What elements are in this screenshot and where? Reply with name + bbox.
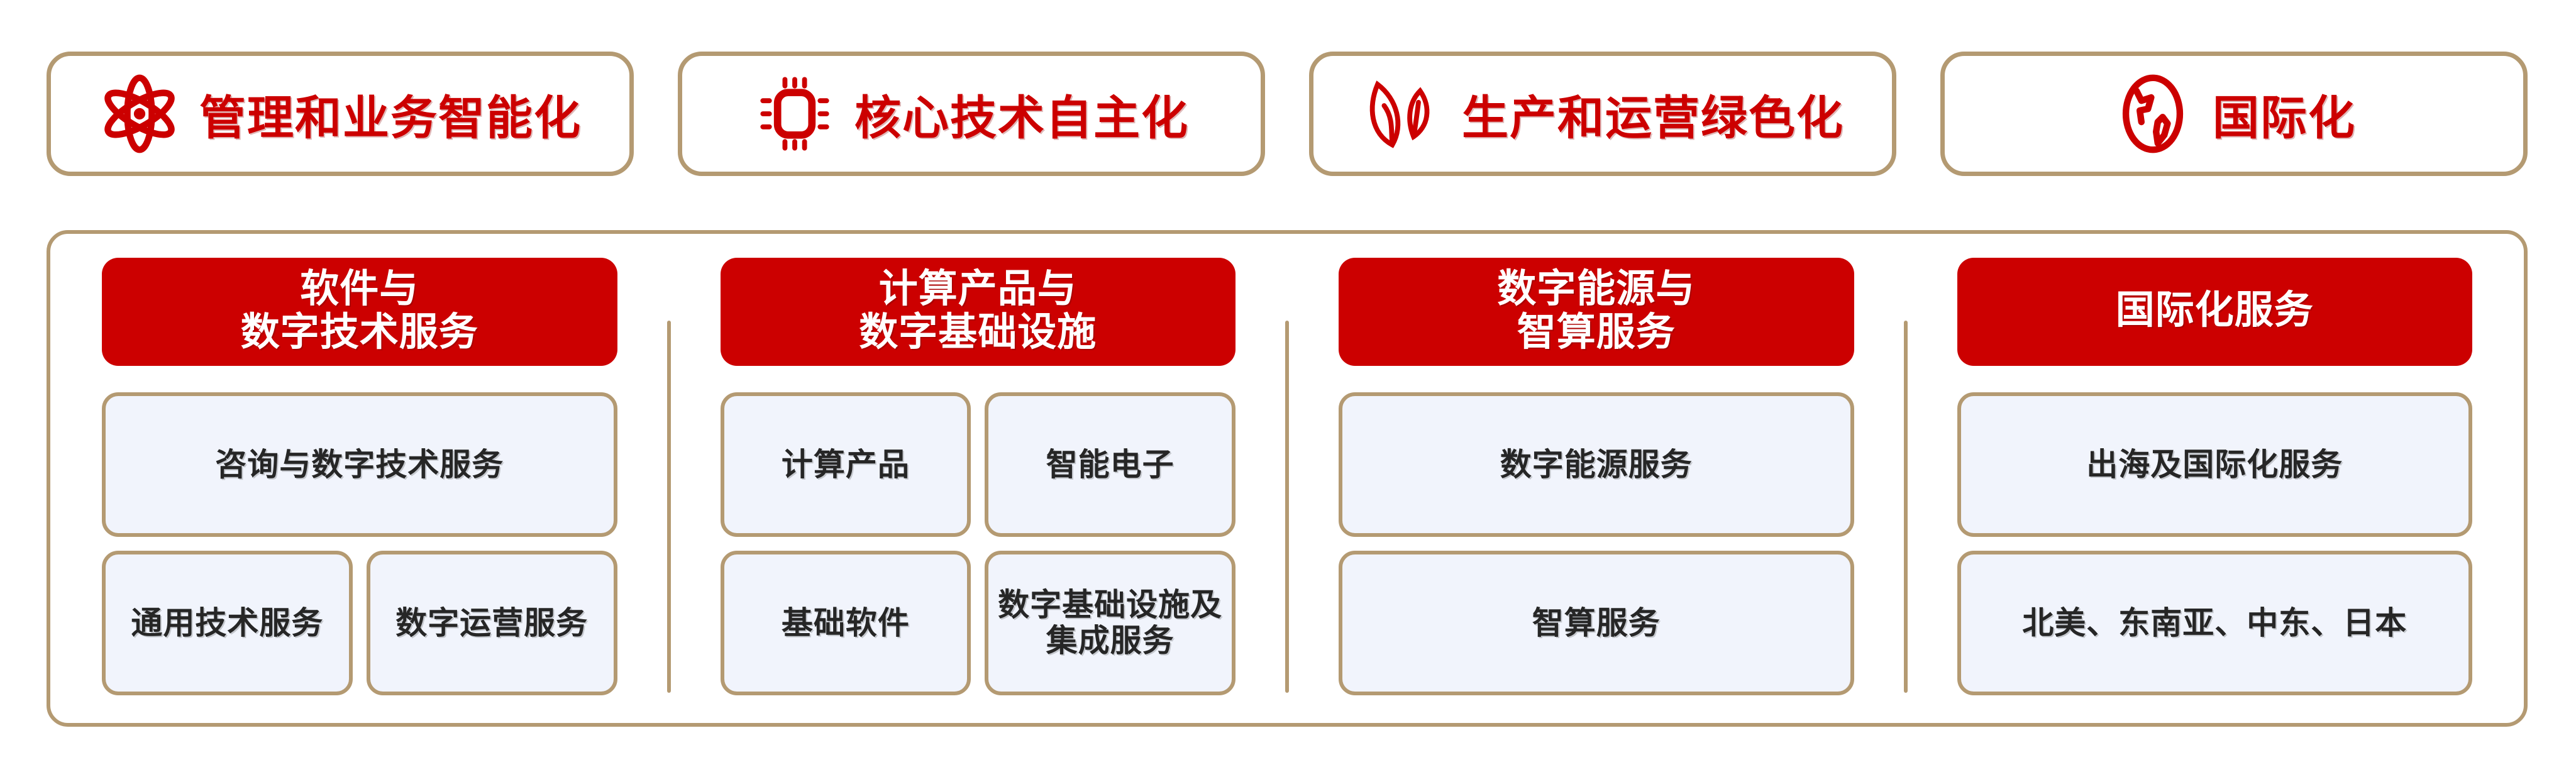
column-header-line1: 计算产品与 <box>879 267 1077 311</box>
column-header[interactable]: 数字能源与 智算服务 <box>1339 258 1854 366</box>
service-item[interactable]: 计算产品 <box>721 392 971 537</box>
column-header-line1: 国际化服务 <box>2116 289 2314 332</box>
strategy-card-internationalization[interactable]: 国际化 <box>1940 52 2528 176</box>
item-row: 数字能源服务 <box>1339 392 1854 537</box>
service-item[interactable]: 数字基础设施及 集成服务 <box>985 551 1235 695</box>
column-header-line2: 智算服务 <box>1517 311 1676 354</box>
service-item-label: 计算产品 <box>782 447 910 483</box>
column-header[interactable]: 软件与 数字技术服务 <box>102 258 617 366</box>
service-item[interactable]: 基础软件 <box>721 551 971 695</box>
business-columns: 软件与 数字技术服务 咨询与数字技术服务 通用技术服务 数字运营服务 <box>50 234 2524 723</box>
service-item-label: 智能电子 <box>1046 447 1175 483</box>
chip-icon <box>754 73 836 155</box>
strategy-card-label: 核心技术自主化 <box>854 80 1189 148</box>
column-items: 数字能源服务 智算服务 <box>1339 392 1854 695</box>
column-items: 计算产品 智能电子 基础软件 数字基础设施及 集成服务 <box>721 392 1236 695</box>
column-header-line1: 数字能源与 <box>1497 267 1695 311</box>
item-row: 出海及国际化服务 <box>1957 392 2473 537</box>
business-column-international-services: 国际化服务 出海及国际化服务 北美、东南亚、中东、日本 <box>1906 234 2524 723</box>
service-item[interactable]: 智算服务 <box>1339 551 1854 695</box>
strategy-card-label: 管理和业务智能化 <box>199 80 582 148</box>
service-item[interactable]: 出海及国际化服务 <box>1957 392 2473 537</box>
business-segments-panel: 软件与 数字技术服务 咨询与数字技术服务 通用技术服务 数字运营服务 <box>47 230 2528 727</box>
service-item-label: 数字能源服务 <box>1500 447 1693 483</box>
business-column-software-digital-tech: 软件与 数字技术服务 咨询与数字技术服务 通用技术服务 数字运营服务 <box>50 234 669 723</box>
service-item[interactable]: 数字运营服务 <box>367 551 617 695</box>
service-item-label: 出海及国际化服务 <box>2086 447 2343 483</box>
strategy-card-core-tech-autonomy[interactable]: 核心技术自主化 <box>678 52 1265 176</box>
atom-icon <box>99 73 180 155</box>
column-header-line2: 数字技术服务 <box>241 311 478 354</box>
column-items: 出海及国际化服务 北美、东南亚、中东、日本 <box>1957 392 2473 695</box>
service-item-label-line2: 集成服务 <box>998 623 1222 659</box>
item-row: 通用技术服务 数字运营服务 <box>102 551 617 695</box>
item-row: 智算服务 <box>1339 551 1854 695</box>
service-item[interactable]: 数字能源服务 <box>1339 392 1854 537</box>
globe-icon <box>2112 73 2194 155</box>
item-row: 基础软件 数字基础设施及 集成服务 <box>721 551 1236 695</box>
column-header[interactable]: 计算产品与 数字基础设施 <box>721 258 1236 366</box>
item-row: 北美、东南亚、中东、日本 <box>1957 551 2473 695</box>
service-item-label: 智算服务 <box>1532 605 1661 641</box>
business-column-computing-infrastructure: 计算产品与 数字基础设施 计算产品 智能电子 基础软件 <box>669 234 1288 723</box>
item-row: 咨询与数字技术服务 <box>102 392 617 537</box>
service-item-label: 数字基础设施及 <box>998 587 1222 623</box>
column-header[interactable]: 国际化服务 <box>1957 258 2473 366</box>
strategy-card-green-operations[interactable]: 生产和运营绿色化 <box>1309 52 1896 176</box>
service-item[interactable]: 北美、东南亚、中东、日本 <box>1957 551 2473 695</box>
service-item-label: 数字运营服务 <box>395 605 588 641</box>
service-item-label: 咨询与数字技术服务 <box>215 447 504 483</box>
column-items: 咨询与数字技术服务 通用技术服务 数字运营服务 <box>102 392 617 695</box>
item-row: 计算产品 智能电子 <box>721 392 1236 537</box>
strategy-cards-row: 管理和业务智能化 <box>47 52 2528 176</box>
service-item[interactable]: 智能电子 <box>985 392 1235 537</box>
leaf-icon <box>1361 73 1443 155</box>
column-header-line2: 数字基础设施 <box>859 311 1097 354</box>
column-header-line1: 软件与 <box>300 267 419 311</box>
service-item-label: 基础软件 <box>782 605 910 641</box>
service-item[interactable]: 咨询与数字技术服务 <box>102 392 617 537</box>
service-item-label: 通用技术服务 <box>131 605 323 641</box>
service-item-label: 北美、东南亚、中东、日本 <box>2022 605 2407 641</box>
business-column-digital-energy-computing: 数字能源与 智算服务 数字能源服务 智算服务 <box>1287 234 1906 723</box>
strategy-card-label: 生产和运营绿色化 <box>1462 80 1844 148</box>
strategy-card-management-intelligence[interactable]: 管理和业务智能化 <box>47 52 634 176</box>
strategy-card-label: 国际化 <box>2213 80 2356 148</box>
service-item[interactable]: 通用技术服务 <box>102 551 353 695</box>
